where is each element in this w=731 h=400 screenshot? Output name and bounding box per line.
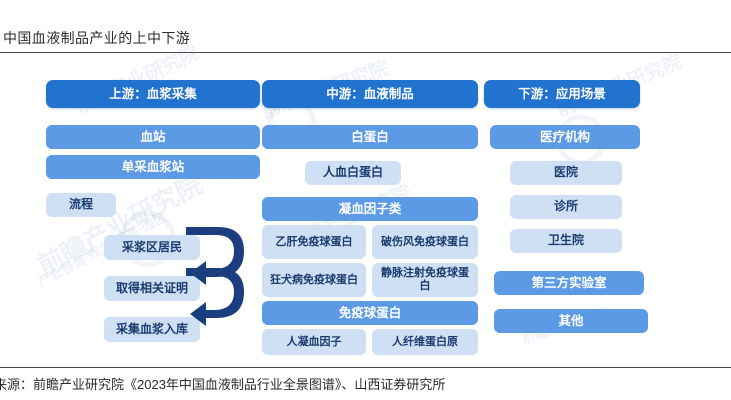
midstream-item-human-fibrinogen[interactable]: 人纤维蛋白原	[372, 329, 478, 355]
midstream-item-rabies-immunoglobulin[interactable]: 狂犬病免疫球蛋白	[262, 263, 366, 297]
page-title: 中国血液制品产业的上中下游	[3, 28, 190, 48]
column-header-midstream[interactable]: 中游：血液制品	[262, 80, 478, 108]
downstream-item-medical-institutions[interactable]: 医疗机构	[490, 125, 640, 149]
upstream-flow-step-3[interactable]: 采集血浆入库	[104, 317, 200, 342]
downstream-item-hospital[interactable]: 医院	[510, 161, 622, 185]
upstream-item-blood-station[interactable]: 血站	[46, 125, 260, 149]
downstream-item-others[interactable]: 其他	[494, 309, 648, 333]
midstream-item-human-coagulation-factor[interactable]: 人凝血因子	[262, 329, 366, 355]
downstream-item-third-party-lab[interactable]: 第三方实验室	[494, 271, 644, 295]
upstream-item-plasma-station[interactable]: 单采血浆站	[46, 155, 260, 179]
midstream-group-albumin-title[interactable]: 白蛋白	[262, 125, 478, 149]
upstream-flow-step-1[interactable]: 采浆区居民	[104, 235, 200, 260]
midstream-item-tetanus-immunoglobulin[interactable]: 破伤风免疫球蛋白	[372, 225, 478, 259]
source-note: 来源：前瞻产业研究院《2023年中国血液制品行业全景图谱》、山西证券研究所	[0, 374, 445, 393]
midstream-group-coagulation-factors-title[interactable]: 凝血因子类	[262, 197, 478, 221]
downstream-item-clinic[interactable]: 诊所	[510, 195, 622, 219]
upstream-item-process[interactable]: 流程	[46, 193, 116, 217]
column-header-upstream[interactable]: 上游：血浆采集	[46, 80, 260, 108]
upstream-flow-step-2[interactable]: 取得相关证明	[104, 276, 200, 301]
midstream-group-immunoglobulin-title[interactable]: 免疫球蛋白	[262, 301, 478, 325]
column-header-downstream[interactable]: 下游：应用场景	[484, 80, 640, 108]
watermark-brand: 前瞻产业研究院	[30, 164, 208, 282]
midstream-item-hepb-immunoglobulin[interactable]: 乙肝免疫球蛋白	[262, 225, 366, 259]
midstream-item-iv-immunoglobulin[interactable]: 静脉注射免疫球蛋白	[372, 263, 478, 297]
midstream-item-human-serum-albumin[interactable]: 人血白蛋白	[305, 161, 401, 185]
industry-chain-diagram: 前瞻产业研究院 产业咨询·规划·招商·园区 前瞻产业研究院 前瞻产业研究院 前瞻…	[0, 53, 731, 367]
footer-divider	[0, 367, 731, 368]
downstream-item-health-center[interactable]: 卫生院	[510, 229, 622, 253]
